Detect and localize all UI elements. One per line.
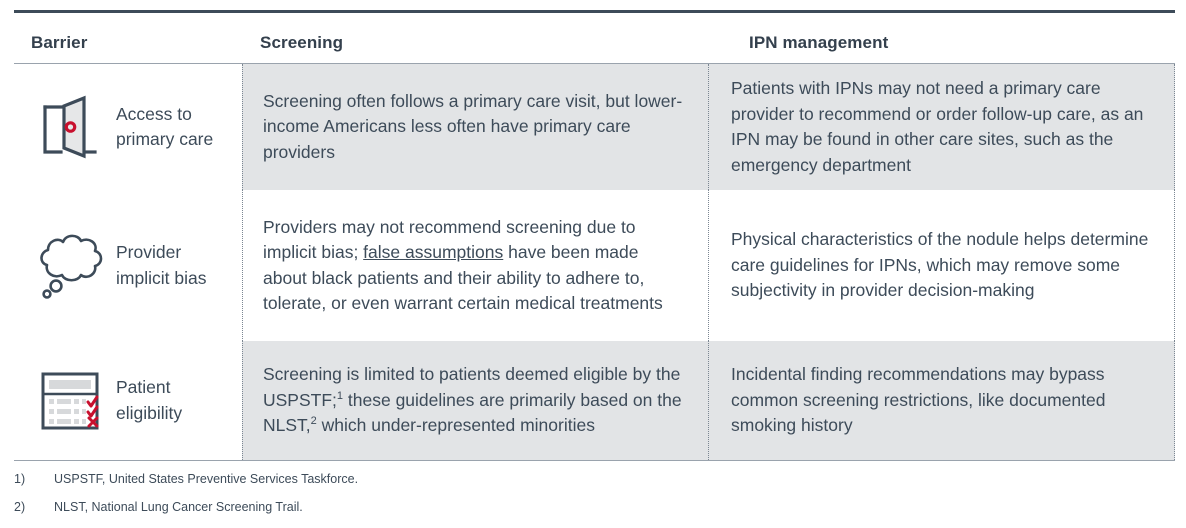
- ipn-text: Incidental finding recommendations may b…: [731, 362, 1150, 439]
- table-top-rule: [14, 10, 1175, 13]
- thought-cloud-icon: [28, 230, 112, 302]
- screening-text-part: which under-represented minorities: [317, 415, 595, 435]
- barriers-comparison-table: Barrier Screening IPN management: [0, 0, 1186, 522]
- ipn-management-cell: Incidental finding recommendations may b…: [708, 341, 1175, 460]
- screening-text: Screening is limited to patients deemed …: [263, 362, 686, 439]
- ipn-text: Patients with IPNs may not need a primar…: [731, 76, 1150, 178]
- barrier-label-line2: eligibility: [116, 401, 182, 427]
- footnote-item: 1) USPSTF, United States Preventive Serv…: [14, 472, 1014, 487]
- barrier-label: Access to primary care: [116, 102, 213, 153]
- screening-cell: Screening is limited to patients deemed …: [242, 341, 708, 460]
- table-row: Provider implicit bias Providers may not…: [14, 190, 1175, 341]
- barrier-cell: Provider implicit bias: [14, 190, 242, 341]
- false-assumptions-link[interactable]: false assumptions: [363, 242, 503, 262]
- table-row: Patient eligibility Screening is limited…: [14, 341, 1175, 460]
- column-header-ipn-management: IPN management: [749, 22, 888, 63]
- footnote-item: 2) NLST, National Lung Cancer Screening …: [14, 500, 1014, 515]
- table-bottom-rule: [14, 460, 1175, 461]
- barrier-label: Patient eligibility: [116, 375, 182, 426]
- barrier-label-line1: Patient: [116, 375, 182, 401]
- ipn-management-cell: Physical characteristics of the nodule h…: [708, 190, 1175, 341]
- ipn-management-cell: Patients with IPNs may not need a primar…: [708, 64, 1175, 190]
- footnote-text: NLST, National Lung Cancer Screening Tra…: [54, 500, 1014, 515]
- screening-text: Screening often follows a primary care v…: [263, 89, 686, 166]
- barrier-label-line2: primary care: [116, 127, 213, 153]
- barrier-label-line1: Access to: [116, 102, 213, 128]
- footnote-text: USPSTF, United States Preventive Service…: [54, 472, 1014, 487]
- barrier-cell: Patient eligibility: [14, 341, 242, 460]
- screening-text: Providers may not recommend screening du…: [263, 215, 686, 317]
- screening-cell: Screening often follows a primary care v…: [242, 64, 708, 190]
- footnote-marker: 1): [14, 472, 54, 487]
- screening-cell: Providers may not recommend screening du…: [242, 190, 708, 341]
- footnote-marker: 2): [14, 500, 54, 515]
- screening-text-part: Screening often follows a primary care v…: [263, 91, 682, 162]
- column-header-screening: Screening: [260, 22, 343, 63]
- barrier-label-line2: implicit bias: [116, 266, 206, 292]
- footnotes: 1) USPSTF, United States Preventive Serv…: [14, 472, 1014, 528]
- barrier-label-line1: Provider: [116, 240, 206, 266]
- table-header-row: Barrier Screening IPN management: [14, 22, 1175, 63]
- open-door-icon: [28, 91, 112, 163]
- checklist-form-icon: [28, 365, 112, 437]
- column-header-barrier: Barrier: [31, 22, 87, 63]
- ipn-text: Physical characteristics of the nodule h…: [731, 227, 1150, 304]
- barrier-label: Provider implicit bias: [116, 240, 206, 291]
- table-row: Access to primary care Screening often f…: [14, 64, 1175, 190]
- barrier-cell: Access to primary care: [14, 64, 242, 190]
- table-body: Access to primary care Screening often f…: [14, 64, 1175, 460]
